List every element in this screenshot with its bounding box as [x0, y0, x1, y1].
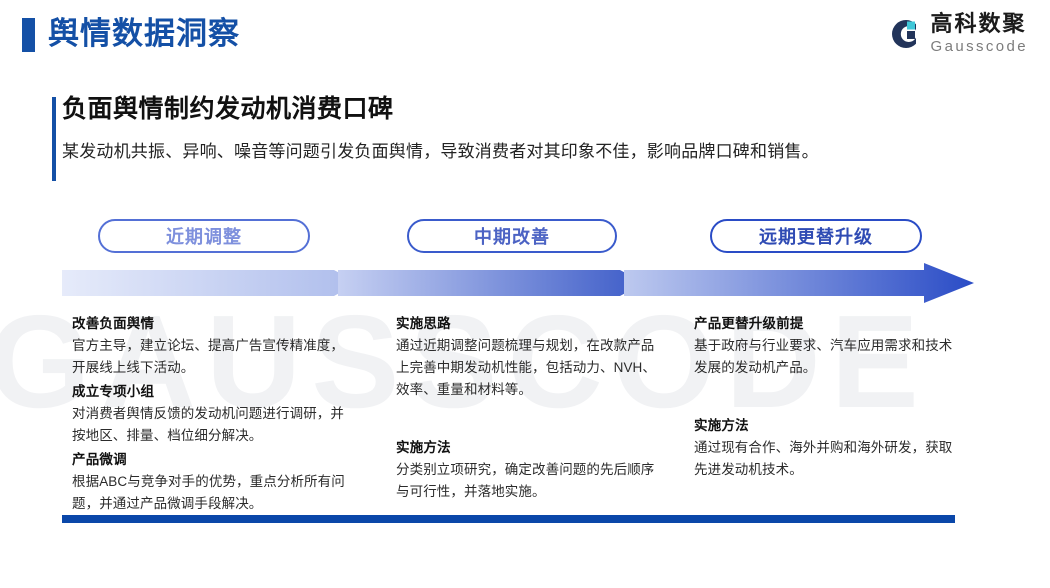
detail-heading: 成立专项小组 [72, 381, 357, 403]
detail-body: 根据ABC与竞争对手的优势，重点分析所有问题，并通过产品微调手段解决。 [72, 471, 357, 515]
brand-logo: 高科数聚 Gausscode [886, 13, 1028, 54]
detail-block: 产品更替升级前提 基于政府与行业要求、汽车应用需求和技术发展的发动机产品。 [694, 313, 959, 379]
column-spacer [694, 381, 959, 415]
detail-body: 分类别立项研究，确定改善问题的先后顺序与可行性，并落地实施。 [396, 459, 664, 503]
detail-block: 实施方法 分类别立项研究，确定改善问题的先后顺序与可行性，并落地实施。 [396, 437, 664, 503]
detail-block: 产品微调 根据ABC与竞争对手的优势，重点分析所有问题，并通过产品微调手段解决。 [72, 449, 357, 515]
stage-pill-row: 近期调整 中期改善 远期更替升级 [62, 219, 972, 255]
logo-text-cn: 高科数聚 [931, 13, 1028, 35]
slide-canvas: GAUSSCODE 舆情数据洞察 高科数聚 Gausscode 负面舆情制约发动… [0, 0, 1050, 588]
detail-column-near-term: 改善负面舆情 官方主导，建立论坛、提高广告宣传精准度，开展线上线下活动。 成立专… [72, 313, 357, 517]
detail-block: 改善负面舆情 官方主导，建立论坛、提高广告宣传精准度，开展线上线下活动。 [72, 313, 357, 379]
detail-heading: 实施方法 [694, 415, 959, 437]
detail-body: 通过近期调整问题梳理与规划，在改款产品上完善中期发动机性能，包括动力、NVH、效… [396, 335, 664, 401]
lead-title: 负面舆情制约发动机消费口碑 [62, 92, 972, 126]
page-title: 舆情数据洞察 [48, 12, 240, 56]
detail-body: 基于政府与行业要求、汽车应用需求和技术发展的发动机产品。 [694, 335, 959, 379]
detail-body: 通过现有合作、海外并购和海外研发，获取先进发动机技术。 [694, 437, 959, 481]
detail-body: 官方主导，建立论坛、提高广告宣传精准度，开展线上线下活动。 [72, 335, 357, 379]
detail-block: 成立专项小组 对消费者舆情反馈的发动机问题进行调研，并按地区、排量、档位细分解决… [72, 381, 357, 447]
detail-block: 实施思路 通过近期调整问题梳理与规划，在改款产品上完善中期发动机性能，包括动力、… [396, 313, 664, 401]
stage-pill-near-term[interactable]: 近期调整 [98, 219, 310, 253]
detail-heading: 改善负面舆情 [72, 313, 357, 335]
timeline-arrow-band [62, 262, 974, 304]
stage-pill-mid-term[interactable]: 中期改善 [407, 219, 617, 253]
detail-heading: 实施思路 [396, 313, 664, 335]
detail-column-long-term: 产品更替升级前提 基于政府与行业要求、汽车应用需求和技术发展的发动机产品。 实施… [694, 313, 959, 483]
column-spacer [396, 403, 664, 437]
lead-accent-bar [52, 97, 56, 181]
detail-column-mid-term: 实施思路 通过近期调整问题梳理与规划，在改款产品上完善中期发动机性能，包括动力、… [396, 313, 664, 505]
logo-text-en: Gausscode [931, 39, 1028, 54]
lead-block: 负面舆情制约发动机消费口碑 某发动机共振、异响、噪音等问题引发负面舆情，导致消费… [62, 92, 972, 165]
detail-block: 实施方法 通过现有合作、海外并购和海外研发，获取先进发动机技术。 [694, 415, 959, 481]
detail-heading: 实施方法 [396, 437, 664, 459]
detail-heading: 产品微调 [72, 449, 357, 471]
title-marker-icon [22, 18, 35, 52]
lead-subtitle: 某发动机共振、异响、噪音等问题引发负面舆情，导致消费者对其印象不佳，影响品牌口碑… [62, 139, 972, 165]
gausscode-logo-icon [886, 16, 922, 52]
footer-rule [62, 515, 955, 523]
stage-pill-long-term[interactable]: 远期更替升级 [710, 219, 922, 253]
detail-body: 对消费者舆情反馈的发动机问题进行调研，并按地区、排量、档位细分解决。 [72, 403, 357, 447]
detail-heading: 产品更替升级前提 [694, 313, 959, 335]
slide-header: 舆情数据洞察 高科数聚 Gausscode [0, 0, 1050, 72]
